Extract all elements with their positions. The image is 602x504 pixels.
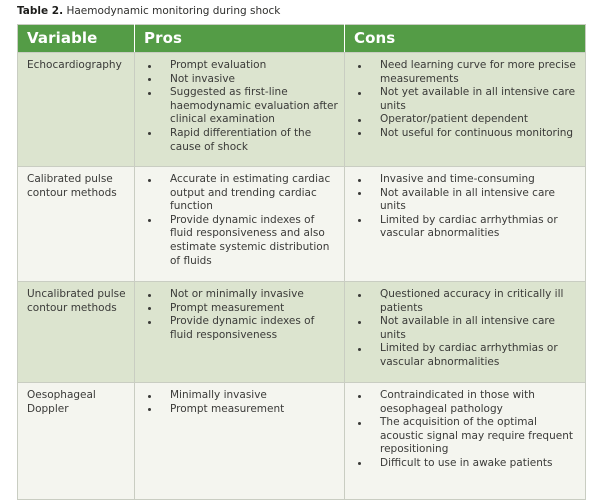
list-item: Accurate in estimating cardiac output an… xyxy=(139,173,338,214)
cell-cons: Invasive and time-consuming Not availabl… xyxy=(345,167,586,282)
table-row: Uncalibrated pulse contour methods Not o… xyxy=(18,282,586,383)
list-item: Invasive and time-consuming xyxy=(349,173,579,187)
pros-list: Not or minimally invasive Prompt measure… xyxy=(139,288,338,342)
table-header: Variable Pros Cons xyxy=(18,25,586,53)
list-item: Rapid differentiation of the cause of sh… xyxy=(139,127,338,154)
list-item: Difficult to use in awake patients xyxy=(349,457,579,471)
table-header-row: Variable Pros Cons xyxy=(18,25,586,53)
pros-list: Minimally invasive Prompt measurement xyxy=(139,389,338,416)
table-row: Oesophageal Doppler Minimally invasive P… xyxy=(18,383,586,500)
list-item: Need learning curve for more precise mea… xyxy=(349,59,579,86)
list-item: Contraindicated in those with oesophagea… xyxy=(349,389,579,416)
list-item: Limited by cardiac arrhythmias or vascul… xyxy=(349,342,579,369)
cell-variable: Oesophageal Doppler xyxy=(18,383,135,500)
list-item: Provide dynamic indexes of fluid respons… xyxy=(139,315,338,342)
cell-variable: Echocardiography xyxy=(18,53,135,167)
column-header-pros: Pros xyxy=(135,25,345,53)
caption-text: Haemodynamic monitoring during shock xyxy=(66,5,280,17)
variable-label: Echocardiography xyxy=(27,59,122,71)
variable-label: Calibrated pulse contour methods xyxy=(27,173,117,199)
table-row: Calibrated pulse contour methods Accurat… xyxy=(18,167,586,282)
table-container: Variable Pros Cons Echocardiography Prom… xyxy=(17,24,585,500)
list-item: Prompt measurement xyxy=(139,302,338,316)
cons-list: Need learning curve for more precise mea… xyxy=(349,59,579,141)
cell-cons: Need learning curve for more precise mea… xyxy=(345,53,586,167)
cell-pros: Accurate in estimating cardiac output an… xyxy=(135,167,345,282)
list-item: The acquisition of the optimal acoustic … xyxy=(349,416,579,457)
caption-label: Table 2. xyxy=(17,5,63,17)
table-page: Table 2. Haemodynamic monitoring during … xyxy=(0,0,602,504)
list-item: Minimally invasive xyxy=(139,389,338,403)
table-row: Echocardiography Prompt evaluation Not i… xyxy=(18,53,586,167)
list-item: Provide dynamic indexes of fluid respons… xyxy=(139,214,338,268)
cons-list: Contraindicated in those with oesophagea… xyxy=(349,389,579,471)
column-header-variable: Variable xyxy=(18,25,135,53)
list-item: Not available in all intensive care unit… xyxy=(349,315,579,342)
table-body: Echocardiography Prompt evaluation Not i… xyxy=(18,53,586,500)
cell-pros: Minimally invasive Prompt measurement xyxy=(135,383,345,500)
list-item: Suggested as first-line haemodynamic eva… xyxy=(139,86,338,127)
table-caption: Table 2. Haemodynamic monitoring during … xyxy=(17,4,280,18)
list-item: Prompt measurement xyxy=(139,403,338,417)
list-item: Not or minimally invasive xyxy=(139,288,338,302)
pros-list: Prompt evaluation Not invasive Suggested… xyxy=(139,59,338,154)
list-item: Questioned accuracy in critically ill pa… xyxy=(349,288,579,315)
list-item: Operator/patient dependent xyxy=(349,113,579,127)
haemodynamic-monitoring-table: Variable Pros Cons Echocardiography Prom… xyxy=(17,24,586,500)
pros-list: Accurate in estimating cardiac output an… xyxy=(139,173,338,268)
cell-cons: Contraindicated in those with oesophagea… xyxy=(345,383,586,500)
list-item: Limited by cardiac arrhythmias or vascul… xyxy=(349,214,579,241)
list-item: Not yet available in all intensive care … xyxy=(349,86,579,113)
cons-list: Questioned accuracy in critically ill pa… xyxy=(349,288,579,370)
cons-list: Invasive and time-consuming Not availabl… xyxy=(349,173,579,241)
cell-variable: Uncalibrated pulse contour methods xyxy=(18,282,135,383)
variable-label: Uncalibrated pulse contour methods xyxy=(27,288,126,314)
variable-label: Oesophageal Doppler xyxy=(27,389,96,415)
cell-cons: Questioned accuracy in critically ill pa… xyxy=(345,282,586,383)
list-item: Not invasive xyxy=(139,73,338,87)
cell-pros: Prompt evaluation Not invasive Suggested… xyxy=(135,53,345,167)
cell-pros: Not or minimally invasive Prompt measure… xyxy=(135,282,345,383)
cell-variable: Calibrated pulse contour methods xyxy=(18,167,135,282)
list-item: Not available in all intensive care unit… xyxy=(349,187,579,214)
list-item: Not useful for continuous monitoring xyxy=(349,127,579,141)
list-item: Prompt evaluation xyxy=(139,59,338,73)
column-header-cons: Cons xyxy=(345,25,586,53)
